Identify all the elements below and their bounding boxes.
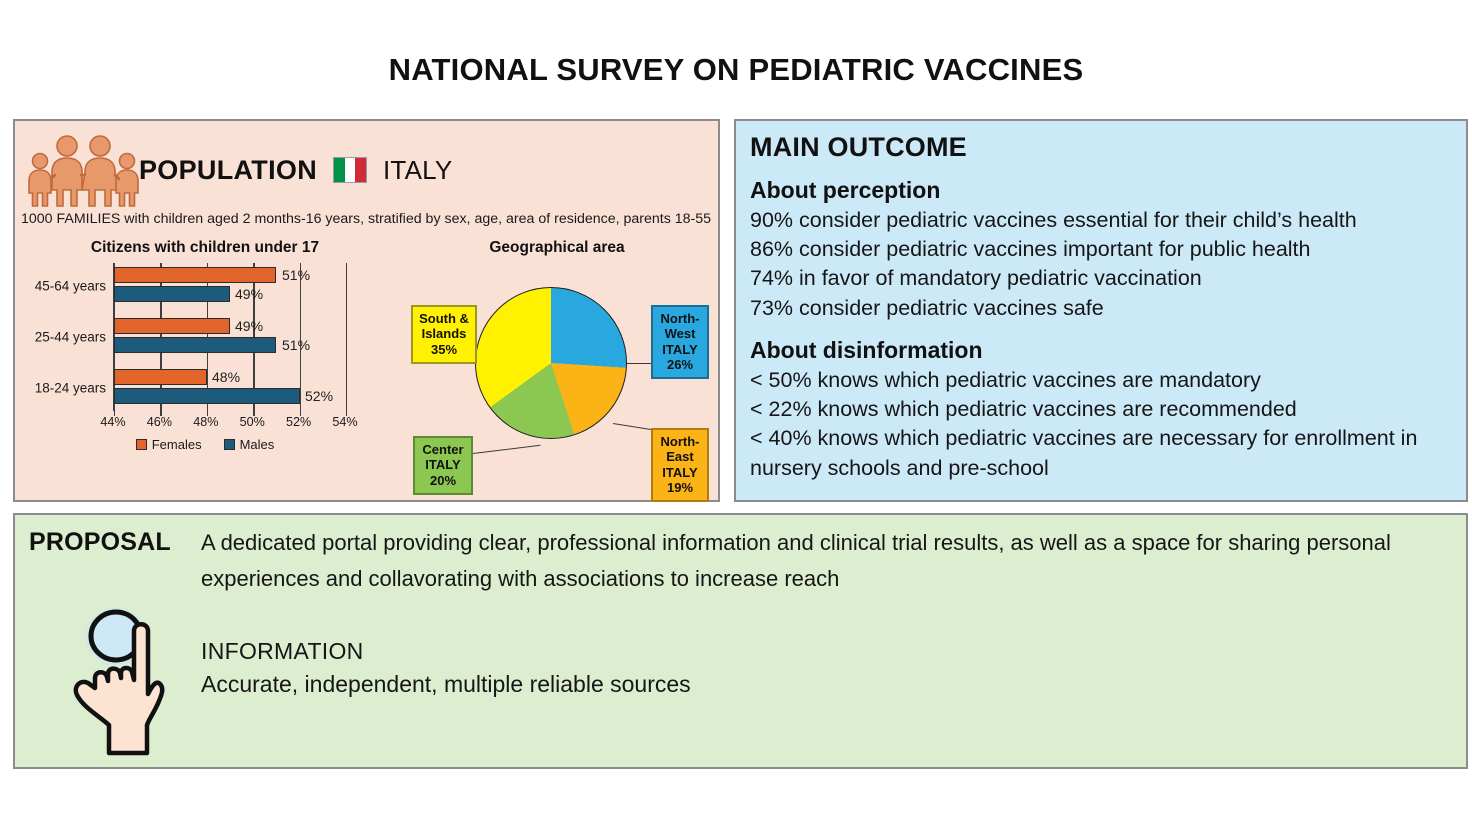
disinformation-section: About disinformation < 50% knows which p…	[750, 337, 1450, 483]
callout-value: 20%	[417, 473, 469, 488]
bar-group: 18-24 years 48% 52%	[114, 367, 389, 409]
country-label: ITALY	[383, 155, 452, 186]
x-tick: 44%	[100, 415, 125, 429]
information-block: INFORMATION Accurate, independent, multi…	[201, 638, 691, 698]
proposal-panel: PROPOSAL A dedicated portal providing cl…	[13, 513, 1468, 769]
bar-chart-plot-area: 45-64 years 51% 49% 25-44 years 49% 51%	[113, 263, 345, 411]
bar-male	[114, 286, 230, 302]
x-tick: 46%	[147, 415, 172, 429]
page-title: NATIONAL SURVEY ON PEDIATRIC VACCINES	[0, 52, 1472, 88]
pie-callout-north-east: North- East ITALY 19%	[651, 428, 709, 502]
bar-group: 25-44 years 49% 51%	[114, 316, 389, 358]
pie-graphic	[475, 287, 627, 439]
information-subtitle: Accurate, independent, multiple reliable…	[201, 671, 691, 698]
bar-female	[114, 267, 276, 283]
bar-chart: Citizens with children under 17 45-64 ye…	[21, 239, 389, 489]
pie-chart-plot-area: South & Islands 35% North- West ITALY 26…	[397, 263, 717, 485]
infographic-poster: NATIONAL SURVEY ON PEDIATRIC VACCINES	[0, 0, 1472, 828]
bar-category-label: 45-64 years	[35, 279, 106, 294]
x-tick: 54%	[332, 415, 357, 429]
bar-value-label: 51%	[282, 267, 310, 283]
disinformation-line: < 22% knows which pediatric vaccines are…	[750, 395, 1450, 424]
population-header: POPULATION ITALY	[139, 149, 452, 191]
pie-callout-south: South & Islands 35%	[411, 305, 477, 364]
bar-category-label: 25-44 years	[35, 330, 106, 345]
legend-item-females: Females	[136, 437, 202, 452]
information-title: INFORMATION	[201, 638, 691, 665]
callout-line: West	[655, 326, 705, 341]
perception-line: 90% consider pediatric vaccines essentia…	[750, 206, 1450, 235]
legend-label: Females	[152, 437, 202, 452]
bar-value-label: 52%	[305, 388, 333, 404]
callout-line: South &	[415, 311, 473, 326]
disinformation-line: < 50% knows which pediatric vaccines are…	[750, 366, 1450, 395]
main-outcome-title: MAIN OUTCOME	[750, 132, 967, 163]
family-icon	[23, 131, 145, 207]
pie-callout-center: Center ITALY 20%	[413, 436, 473, 495]
pie-chart-title: Geographical area	[397, 239, 717, 257]
disinformation-heading: About disinformation	[750, 337, 1450, 364]
callout-line: ITALY	[655, 465, 705, 480]
bar-value-label: 51%	[282, 337, 310, 353]
legend-item-males: Males	[224, 437, 275, 452]
perception-line: 73% consider pediatric vaccines safe	[750, 294, 1450, 323]
x-tick: 48%	[193, 415, 218, 429]
callout-line: East	[655, 449, 705, 464]
bar-male	[114, 388, 300, 404]
legend-label: Males	[240, 437, 275, 452]
bar-chart-legend: Females Males	[21, 437, 389, 452]
callout-value: 35%	[415, 342, 473, 357]
pie-callout-north-west: North- West ITALY 26%	[651, 305, 709, 379]
proposal-label: PROPOSAL	[29, 528, 171, 557]
bar-group: 45-64 years 51% 49%	[114, 265, 389, 307]
legend-swatch-icon	[224, 439, 235, 450]
population-subtitle: 1000 FAMILIES with children aged 2 month…	[21, 211, 721, 227]
callout-line: Center	[417, 442, 469, 457]
italy-flag-icon	[333, 157, 367, 183]
perception-line: 74% in favor of mandatory pediatric vacc…	[750, 264, 1450, 293]
callout-value: 26%	[655, 357, 705, 372]
pointing-hand-icon	[63, 605, 173, 760]
perception-heading: About perception	[750, 177, 1450, 204]
callout-line: North-	[655, 311, 705, 326]
callout-line: North-	[655, 434, 705, 449]
legend-swatch-icon	[136, 439, 147, 450]
bar-female	[114, 318, 230, 334]
proposal-text: A dedicated portal providing clear, prof…	[201, 525, 1391, 596]
perception-line: 86% consider pediatric vaccines importan…	[750, 235, 1450, 264]
population-panel: POPULATION ITALY 1000 FAMILIES with chil…	[13, 119, 720, 502]
bar-chart-title: Citizens with children under 17	[21, 239, 389, 257]
callout-value: 19%	[655, 480, 705, 495]
pie-chart: Geographical area South & Islands 35% No…	[397, 239, 717, 489]
disinformation-line: < 40% knows which pediatric vaccines are…	[750, 424, 1450, 482]
x-tick: 52%	[286, 415, 311, 429]
population-title: POPULATION	[139, 155, 317, 186]
x-tick: 50%	[240, 415, 265, 429]
callout-line: Islands	[415, 326, 473, 341]
bar-value-label: 49%	[235, 286, 263, 302]
bar-male	[114, 337, 276, 353]
callout-line: ITALY	[417, 457, 469, 472]
bar-female	[114, 369, 207, 385]
callout-line: ITALY	[655, 342, 705, 357]
bar-value-label: 49%	[235, 318, 263, 334]
perception-section: About perception 90% consider pediatric …	[750, 177, 1450, 323]
bar-value-label: 48%	[212, 369, 240, 385]
bar-chart-x-axis: 44% 46% 48% 50% 52% 54%	[113, 411, 345, 433]
main-outcome-panel: MAIN OUTCOME About perception 90% consid…	[734, 119, 1468, 502]
bar-category-label: 18-24 years	[35, 381, 106, 396]
